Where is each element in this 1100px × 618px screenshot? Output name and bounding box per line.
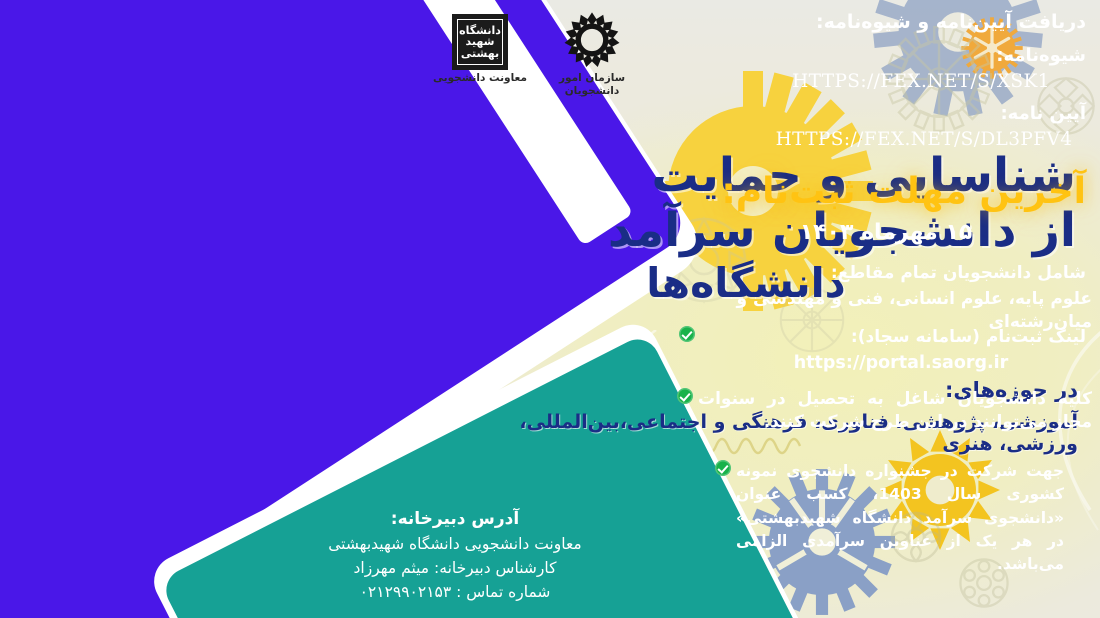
deadline-date: ۱۵ مهرماه ۱۴۰۳: [686, 218, 1086, 248]
registration-link[interactable]: https://portal.saorg.ir: [676, 352, 1086, 376]
secretariat-line-3: شماره تماس : ۰۲۱۲۹۹۰۲۱۵۳: [300, 580, 610, 604]
secretariat-line-1: معاونت دانشجویی دانشگاه شهیدبهشتی: [300, 532, 610, 556]
secretariat-line-2: کارشناس دبیرخانه: میثم مهرزاد: [300, 556, 610, 580]
bullet-1-text: لینک ثبت‌نام (سامانه سجاد):: [700, 326, 1086, 349]
bullet-2: کلیه دانشجویان شاغل به تحصیل در سنوات مج…: [674, 388, 1092, 434]
check-circle-icon: [679, 326, 695, 342]
secretariat-heading: آدرس دبیرخانه:: [300, 506, 610, 532]
check-circle-icon: [715, 460, 731, 476]
deadline-heading: آخرین مهلت ثبت‌نام:: [686, 168, 1086, 217]
bullet-2-text: کلیه دانشجویان شاغل به تحصیل در سنوات مج…: [698, 388, 1092, 434]
bullet-3-text: جهت شرکت در جشنواره دانشجوی نمونه کشوری …: [736, 460, 1064, 576]
downloads-heading: دریافت آیین‌نامه و شیوه‌نامه:: [766, 10, 1086, 36]
guideline-label: شیوه‌نامه:: [766, 44, 1086, 68]
bullet-3: جهت شرکت در جشنواره دانشجوی نمونه کشوری …: [712, 460, 1064, 576]
poster-canvas: دانشگاه شهید بهشتی معاونت دانشجویی: [0, 0, 1100, 618]
check-circle-icon: [677, 388, 693, 404]
guideline-url[interactable]: HTTPS://FEX.NET/S/XSK1: [756, 70, 1086, 95]
regulation-url[interactable]: HTTPS://FEX.NET/S/DL3PFV4: [754, 128, 1094, 153]
regulation-label: آیین نامه:: [766, 102, 1086, 126]
secretariat-section: آدرس دبیرخانه: معاونت دانشجویی دانشگاه ش…: [300, 506, 610, 604]
eligibility-heading: شامل دانشجویان تمام مقاطع:: [676, 262, 1086, 285]
bullet-1: لینک ثبت‌نام (سامانه سجاد): https://port…: [676, 326, 1086, 376]
